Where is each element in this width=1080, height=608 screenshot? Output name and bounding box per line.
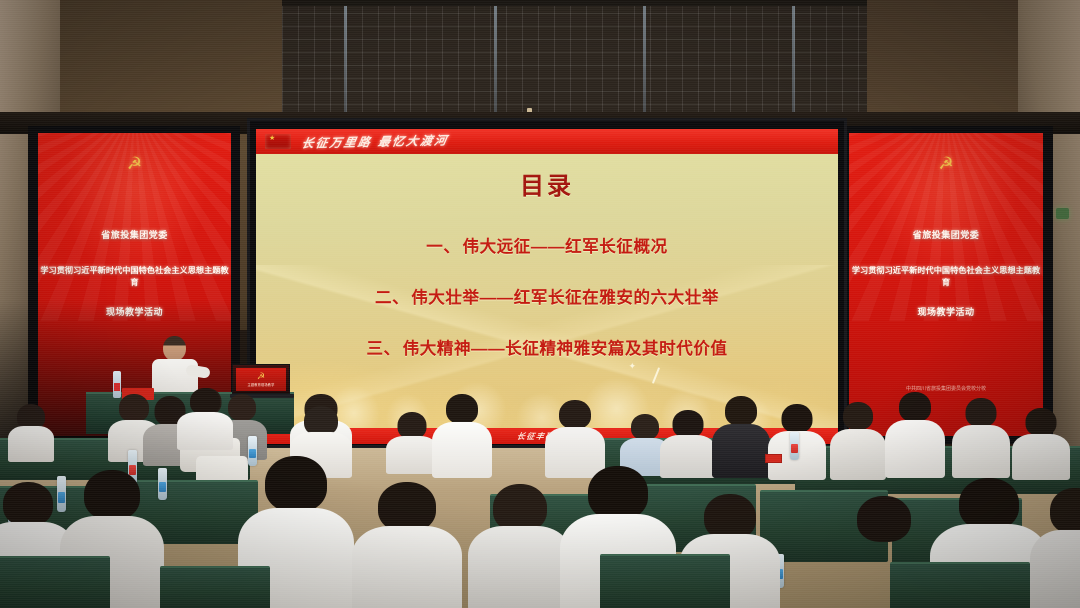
audience-person: [1012, 408, 1070, 480]
left-banner-main-title: 学习贯彻习近平新时代中国特色社会主义思想主题教育: [38, 264, 231, 288]
person-torso: [952, 425, 1010, 478]
photo-scene: ☭ 省旅投集团党委 学习贯彻习近平新时代中国特色社会主义思想主题教育 现场教学活…: [0, 0, 1080, 608]
right-banner-main-title: 学习贯彻习近平新时代中国特色社会主义思想主题教育: [849, 264, 1043, 288]
toc-item-3: 三、 伟大精神——长征精神雅安篇及其时代价值: [256, 335, 838, 359]
slide-header-bar: 长征万里路 最忆大渡河: [256, 129, 838, 154]
person-torso: [468, 526, 572, 608]
person-head: [190, 388, 220, 415]
left-banner-org: 省旅投集团党委: [38, 228, 231, 241]
audience-person: [830, 402, 886, 480]
person-torso: [830, 429, 886, 480]
toc-item-index: 二、: [375, 284, 409, 308]
slide-title: 目录: [256, 166, 838, 201]
person-head: [673, 410, 704, 438]
audience-person-foreground: [468, 484, 572, 608]
toc-item-index: 一、: [426, 233, 460, 257]
person-head: [84, 470, 140, 520]
person-torso: [177, 412, 233, 450]
person-head: [725, 396, 757, 426]
person-head: [1026, 408, 1057, 436]
flag-icon: [265, 134, 291, 149]
audience-person: [432, 394, 492, 478]
person-head: [398, 412, 427, 439]
toc-item-text: 伟大远征——红军长征概况: [463, 233, 668, 257]
person-torso: [432, 422, 492, 478]
audience-person: [885, 392, 945, 478]
toc-item-index: 三、: [366, 335, 400, 359]
audience-person: [386, 412, 438, 474]
person-head: [631, 414, 659, 440]
right-banner-subtitle: 现场教学活动: [849, 305, 1043, 318]
right-banner-org: 省旅投集团党委: [849, 228, 1043, 241]
person-head: [782, 404, 813, 433]
person-head: [1050, 488, 1080, 534]
person-torso: [8, 426, 54, 462]
toc-item-1: 一、 伟大远征——红军长征概况: [256, 233, 838, 257]
audience-person-foreground: [1030, 488, 1080, 608]
person-torso: [712, 424, 770, 478]
audience-person: [712, 396, 770, 478]
person-head: [378, 482, 436, 532]
person-head: [966, 398, 997, 427]
person-torso: [1012, 434, 1070, 480]
person-torso: [885, 420, 945, 478]
water-bottle: [790, 432, 799, 460]
person-head: [959, 478, 1019, 530]
person-head: [3, 482, 53, 526]
slide-toc-list: 一、 伟大远征——红军长征概况 二、 伟大壮举——红军长征在雅安的六大壮举 三、…: [256, 233, 838, 386]
person-head: [588, 466, 648, 520]
party-emblem-icon: ☭: [257, 372, 265, 381]
desk-row-near-right2: [890, 562, 1030, 608]
person-head: [265, 456, 327, 512]
person-torso: [386, 436, 438, 474]
ceiling-header-beam: [282, 0, 867, 6]
desk-row-near-left: [0, 556, 110, 608]
toc-item-text: 伟大壮举——红军长征在雅安的六大壮举: [411, 284, 719, 308]
ceiling-lattice: [282, 0, 867, 122]
person-torso: [352, 526, 462, 608]
person-head: [843, 402, 873, 430]
person-head: [493, 484, 547, 532]
toc-item-text: 伟大精神——长征精神雅安篇及其时代价值: [403, 335, 728, 359]
party-emblem-icon: ☭: [938, 155, 953, 172]
speaker-head: [163, 336, 186, 361]
person-head: [446, 394, 478, 424]
person-head: [899, 392, 931, 422]
desk-row-near-left2: [160, 566, 270, 608]
audience-person: [8, 404, 54, 462]
desk-row-near-right: [600, 554, 730, 608]
audience-person: [952, 398, 1010, 478]
person-head: [559, 400, 591, 429]
person-torso: [1030, 530, 1080, 608]
toc-item-2: 二、 伟大壮举——红军长征在雅安的六大壮举: [256, 284, 838, 308]
desk-nameplate: [765, 454, 782, 463]
audience-area: [0, 386, 1080, 608]
audience-person: [177, 388, 233, 450]
slide-header-calligraphy: 长征万里路 最忆大渡河: [300, 131, 450, 151]
emergency-exit-sign-icon: [1056, 208, 1069, 219]
party-emblem-icon: ☭: [127, 155, 142, 172]
audience-person-foreground: [352, 482, 462, 608]
